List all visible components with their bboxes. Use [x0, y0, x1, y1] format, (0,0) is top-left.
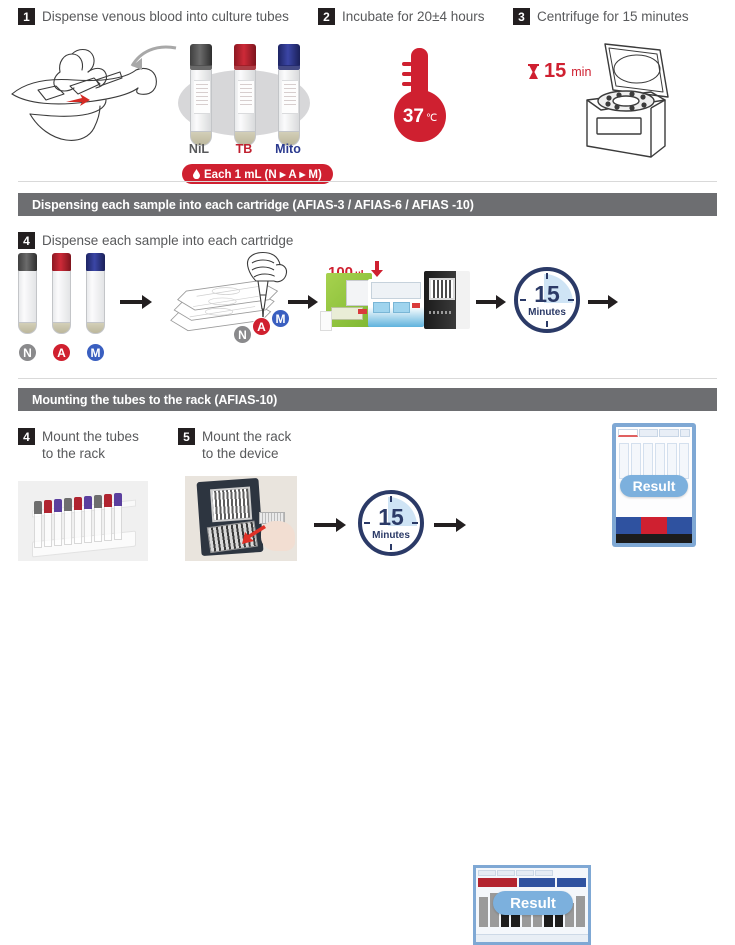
cartridge-tray-group: 100 µL [160, 253, 290, 353]
step-header-5: 5 Mount the rack to the device [178, 428, 291, 463]
tab-system[interactable] [535, 870, 553, 876]
centrifuge-drawing [505, 42, 730, 167]
tube-mito [278, 44, 300, 146]
step-number-badge: 4 [18, 428, 35, 445]
clock-unit: Minutes [528, 307, 566, 318]
step-label: Mount the tubes to the rack [42, 428, 139, 463]
tube-body [86, 271, 105, 323]
rack-tube [94, 495, 102, 542]
thermometer-tick [402, 62, 412, 66]
afias-3-analyzer [326, 273, 372, 327]
tablet-action-buttons[interactable] [616, 517, 692, 534]
flow-arrow-2 [288, 295, 318, 309]
rack-tube [104, 494, 112, 541]
step-number-badge: 2 [318, 8, 335, 25]
tube-body [190, 70, 212, 132]
analyzer-devices-group [326, 267, 466, 339]
step-number-badge: 5 [178, 428, 195, 445]
clock-value: 15 [534, 283, 560, 306]
status-start [478, 878, 517, 887]
step-label-line1: Mount the tubes [42, 429, 139, 446]
monitor-footer [476, 934, 588, 942]
rack-tube [44, 500, 52, 547]
start-button[interactable] [667, 517, 692, 534]
section-blood-collection: 1 Dispense venous blood into culture tub… [0, 0, 735, 170]
tablet-tabs[interactable] [616, 427, 692, 437]
rack-tube [34, 501, 42, 548]
tube-cap [52, 253, 71, 271]
tube-serum [52, 323, 71, 334]
tube-body [234, 70, 256, 132]
step-label: Centrifuge for 15 minutes [537, 8, 689, 26]
tube-cap [234, 44, 256, 66]
tube-cap [86, 253, 105, 271]
step-number-badge: 3 [513, 8, 530, 25]
tube-label [238, 80, 254, 114]
rack-tube [64, 498, 72, 545]
temperature-unit: ℃ [426, 109, 437, 124]
step-label: Dispense venous blood into culture tubes [42, 8, 289, 26]
step-header-4b: 4 Mount the tubes to the rack [18, 428, 139, 463]
monitor-tabs[interactable] [476, 868, 588, 876]
clock-value: 15 [378, 506, 404, 529]
tube-serum [86, 323, 105, 334]
step-header-4: 4 Dispense each sample into each cartrid… [18, 232, 293, 250]
thermometer-tick [402, 82, 412, 86]
tube-label [282, 80, 298, 114]
red-arrow-icon [241, 525, 267, 547]
tab-analysis[interactable] [478, 870, 496, 876]
tube-tb [234, 44, 256, 146]
tube-label [194, 80, 210, 114]
tab-menu[interactable] [680, 429, 690, 437]
tube-cap [278, 44, 300, 66]
monitor-status-headers [476, 876, 588, 889]
thermometer-icon: 37 ℃ [380, 48, 460, 158]
step-number-badge: 4 [18, 232, 35, 249]
step-header-2: 2 Incubate for 20±4 hours [318, 8, 485, 26]
afias-10-analyzer [424, 271, 470, 329]
tube-name-tb: TB [224, 142, 264, 156]
tablet-status-bar [616, 534, 692, 543]
sample-circle-a: A [52, 343, 71, 362]
analyzer-result-monitor[interactable]: Result [473, 865, 591, 945]
thermometer-bulb: 37 ℃ [394, 90, 446, 142]
rack-tube [74, 497, 82, 544]
tab-history[interactable] [497, 870, 515, 876]
status-ready [557, 878, 586, 887]
blood-draw-illustration [8, 42, 178, 152]
tab-qc[interactable] [659, 429, 679, 437]
step-label: Incubate for 20±4 hours [342, 8, 485, 26]
sample-tube-n [18, 253, 37, 334]
cartridge-circle-a: A [252, 317, 271, 336]
red-arrow-icon [66, 94, 90, 106]
sample-circle-m: M [86, 343, 105, 362]
sample-tube-m [86, 253, 105, 334]
device-screen [210, 487, 252, 523]
tube-serum [18, 323, 37, 334]
incubation-clock-15min: 15 Minutes [514, 267, 580, 333]
tube-rack-photo [18, 481, 148, 561]
tab-history[interactable] [639, 429, 659, 437]
step-label: Mount the rack to the device [202, 428, 291, 463]
rack-tube [114, 493, 122, 540]
step-header-1: 1 Dispense venous blood into culture tub… [18, 8, 289, 26]
tablet-result-screen[interactable]: Result [612, 423, 696, 547]
rack-tube [54, 499, 62, 546]
step-label-line2: to the device [202, 446, 291, 463]
result-badge: Result [620, 475, 688, 497]
flow-arrow-5 [314, 518, 346, 532]
dispensing-flow: N A M 100 µL [0, 253, 735, 363]
cartridge-circle-m: M [271, 309, 290, 328]
tube-body [52, 271, 71, 323]
volume-pill-text: Each 1 mL (N ▸ A ▸ M) [204, 167, 322, 181]
culture-tubes-group: NiL TB Mito Each 1 mL (N ▸ A ▸ M) [172, 42, 322, 172]
result-badge: Result [493, 891, 573, 915]
tube-cap [18, 253, 37, 271]
divider [18, 181, 717, 182]
clock-unit: Minutes [372, 530, 410, 541]
thermometer-tick [402, 72, 412, 76]
reaction-clock-15min: 15 Minutes [358, 490, 424, 556]
flow-arrow-1 [120, 295, 152, 309]
temperature-value: 37 [403, 107, 424, 126]
step-number-badge: 1 [18, 8, 35, 25]
centrifuge-illustration: 15 min [505, 42, 730, 167]
flow-arrow-3 [476, 295, 506, 309]
tab-setting[interactable] [516, 870, 534, 876]
step-label-line2: to the rack [42, 446, 139, 463]
afias-6-analyzer [368, 279, 424, 327]
tube-cap [190, 44, 212, 66]
measure-button[interactable] [616, 517, 641, 534]
cartridge-circle-n: N [233, 325, 252, 344]
step-label-line1: Mount the rack [202, 429, 291, 446]
step-header-3: 3 Centrifuge for 15 minutes [513, 8, 689, 26]
section-bar-mounting: Mounting the tubes to the rack (AFIAS-10… [18, 388, 717, 411]
flow-arrow-6 [434, 518, 466, 532]
status-running [519, 878, 555, 887]
droplet-icon [193, 169, 200, 179]
tube-name-mito: Mito [268, 142, 308, 156]
divider [18, 378, 717, 379]
rack-tube [84, 496, 92, 543]
tube-nil [190, 44, 212, 146]
tab-analysis[interactable] [618, 429, 638, 437]
section-bar-dispensing: Dispensing each sample into each cartrid… [18, 193, 717, 216]
flow-arrow-4 [588, 295, 618, 309]
sample-tube-a [52, 253, 71, 334]
tube-name-nil: NiL [179, 142, 219, 156]
step-label: Dispense each sample into each cartridge [42, 232, 293, 250]
tube-body [278, 70, 300, 132]
sample-circle-n: N [18, 343, 37, 362]
stop-button[interactable] [641, 517, 666, 534]
afias-10-device-photo [185, 476, 297, 561]
tube-body [18, 271, 37, 323]
